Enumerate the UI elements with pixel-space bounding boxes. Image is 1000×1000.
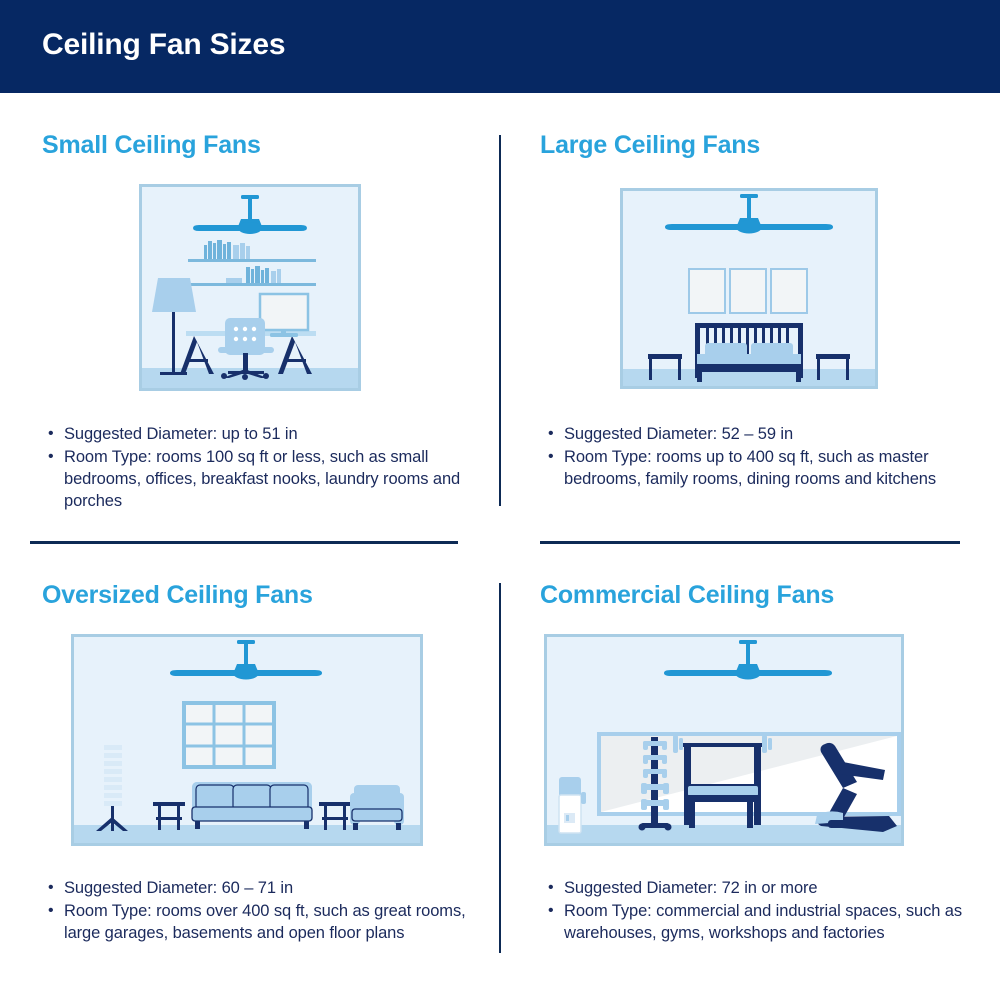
list-item: • Suggested Diameter: 72 in or more	[548, 877, 978, 899]
section-commercial-ceiling-fans: Commercial Ceiling Fans	[500, 543, 1000, 1000]
list-item: • Room Type: commercial and industrial s…	[548, 900, 978, 944]
bullet-list-oversized: • Suggested Diameter: 60 – 71 in • Room …	[48, 877, 478, 945]
header-bar: Ceiling Fan Sizes	[0, 0, 1000, 93]
home-office-svg	[142, 187, 358, 388]
gym-svg	[547, 637, 901, 843]
illustration-home-office	[139, 184, 361, 391]
bullet-text: Suggested Diameter: up to 51 in	[64, 423, 298, 445]
section-oversized-ceiling-fans: Oversized Ceiling Fans	[0, 543, 500, 1000]
bullet-marker: •	[548, 900, 564, 944]
bullet-list-large: • Suggested Diameter: 52 – 59 in • Room …	[548, 423, 978, 491]
section-heading-large: Large Ceiling Fans	[540, 131, 760, 160]
illustration-living-room	[71, 634, 423, 846]
section-heading-commercial: Commercial Ceiling Fans	[540, 581, 834, 610]
bullet-text: Suggested Diameter: 52 – 59 in	[564, 423, 793, 445]
bullet-text: Room Type: rooms over 400 sq ft, such as…	[64, 900, 478, 944]
list-item: • Suggested Diameter: 52 – 59 in	[548, 423, 978, 445]
list-item: • Room Type: rooms over 400 sq ft, such …	[48, 900, 478, 944]
bedroom-svg	[623, 191, 875, 386]
bullet-marker: •	[548, 877, 564, 899]
illustration-gym	[544, 634, 904, 846]
ceiling-fan-icon	[664, 640, 832, 680]
bullet-marker: •	[48, 900, 64, 944]
list-item: • Suggested Diameter: 60 – 71 in	[48, 877, 478, 899]
bullet-text: Room Type: rooms up to 400 sq ft, such a…	[564, 446, 978, 490]
bullet-text: Room Type: rooms 100 sq ft or less, such…	[64, 446, 478, 512]
list-item: • Room Type: rooms up to 400 sq ft, such…	[548, 446, 978, 490]
bullet-text: Suggested Diameter: 60 – 71 in	[64, 877, 293, 899]
list-item: • Room Type: rooms 100 sq ft or less, su…	[48, 446, 478, 512]
bullet-marker: •	[548, 446, 564, 490]
ceiling-fan-icon	[193, 195, 307, 234]
illustration-bedroom	[620, 188, 878, 389]
section-large-ceiling-fans: Large Ceiling Fans	[500, 93, 1000, 543]
bullet-marker: •	[548, 423, 564, 445]
list-item: • Suggested Diameter: up to 51 in	[48, 423, 478, 445]
section-heading-oversized: Oversized Ceiling Fans	[42, 581, 313, 610]
living-room-svg	[74, 637, 420, 843]
bullet-text: Room Type: commercial and industrial spa…	[564, 900, 978, 944]
section-small-ceiling-fans: Small Ceiling Fans	[0, 93, 500, 543]
bullet-marker: •	[48, 423, 64, 445]
bullet-text: Suggested Diameter: 72 in or more	[564, 877, 818, 899]
page-title: Ceiling Fan Sizes	[42, 28, 285, 62]
ceiling-fan-icon	[170, 640, 322, 680]
bullet-list-commercial: • Suggested Diameter: 72 in or more • Ro…	[548, 877, 978, 945]
ceiling-fan-icon	[665, 194, 833, 234]
bullet-marker: •	[48, 877, 64, 899]
bullet-list-small: • Suggested Diameter: up to 51 in • Room…	[48, 423, 478, 513]
section-heading-small: Small Ceiling Fans	[42, 131, 261, 160]
bullet-marker: •	[48, 446, 64, 512]
